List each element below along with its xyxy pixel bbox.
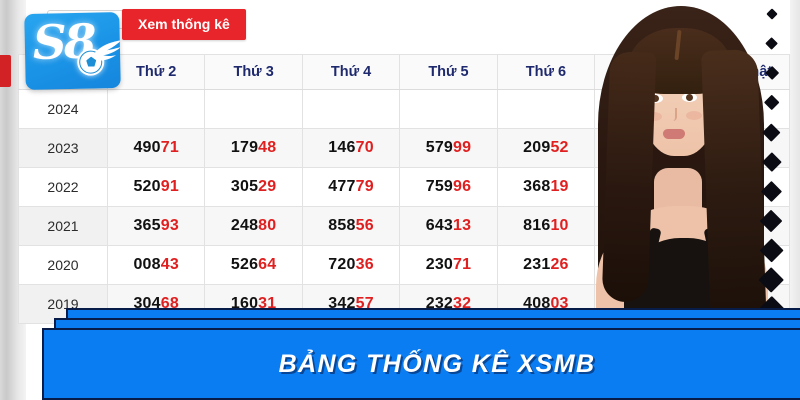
highlight-digits: 26 xyxy=(550,256,568,273)
number-value: 00843 xyxy=(133,256,179,273)
cell-value[interactable]: 00843 xyxy=(108,246,205,285)
blush-right xyxy=(686,111,702,120)
diamond-icon xyxy=(758,267,784,293)
highlight-digits: 48 xyxy=(258,139,276,156)
highlight-digits: 79 xyxy=(356,178,374,195)
nose xyxy=(668,108,677,121)
number-value: 47779 xyxy=(328,178,374,195)
number-value: 14670 xyxy=(328,139,374,156)
cell-value[interactable] xyxy=(400,90,497,129)
cell-value[interactable]: 30529 xyxy=(205,168,302,207)
highlight-digits: 13 xyxy=(453,217,471,234)
highlight-digits: 70 xyxy=(356,139,374,156)
partial-red-button[interactable] xyxy=(0,55,11,87)
row-year: 2023 xyxy=(19,129,108,168)
screenshot-stage: Thứ 2 Thứ 3 Thứ 4 Thứ 5 Thứ 6 Thứ 7 Chủ … xyxy=(0,0,800,400)
cell-value[interactable]: 14670 xyxy=(302,129,399,168)
banner-stack: BẢNG THỐNG KÊ XSMB xyxy=(0,294,800,400)
cell-value[interactable]: 20952 xyxy=(497,129,594,168)
cell-value[interactable] xyxy=(497,90,594,129)
highlight-digits: 10 xyxy=(550,217,568,234)
cell-value[interactable]: 23071 xyxy=(400,246,497,285)
diamond-icon xyxy=(765,66,780,81)
diamond-icon xyxy=(762,152,781,171)
diamond-icon xyxy=(763,123,781,141)
number-value: 85856 xyxy=(328,217,374,234)
highlight-digits: 91 xyxy=(161,178,179,195)
highlight-digits: 56 xyxy=(356,217,374,234)
column-header-thu-4[interactable]: Thứ 4 xyxy=(302,55,399,90)
highlight-digits: 36 xyxy=(356,256,374,273)
banner-title: BẢNG THỐNG KÊ XSMB xyxy=(44,330,800,398)
cell-value[interactable]: 52664 xyxy=(205,246,302,285)
cell-value[interactable]: 23126 xyxy=(497,246,594,285)
diamond-icon xyxy=(761,181,782,202)
diamond-icon xyxy=(764,95,780,111)
column-header-thu-6[interactable]: Thứ 6 xyxy=(497,55,594,90)
diamond-icon xyxy=(760,210,783,233)
row-year: 2024 xyxy=(19,90,108,129)
highlight-digits: 93 xyxy=(161,217,179,234)
number-value: 49071 xyxy=(133,139,179,156)
cell-value[interactable]: 49071 xyxy=(108,129,205,168)
number-value: 20952 xyxy=(523,139,569,156)
number-value: 57999 xyxy=(426,139,472,156)
number-value: 30529 xyxy=(231,178,277,195)
number-value: 36819 xyxy=(523,178,569,195)
highlight-digits: 52 xyxy=(550,139,568,156)
banner-card-front: BẢNG THỐNG KÊ XSMB xyxy=(42,328,800,400)
cell-value[interactable]: 85856 xyxy=(302,207,399,246)
cell-value[interactable] xyxy=(302,90,399,129)
diamond-icon xyxy=(759,238,783,262)
number-value: 23126 xyxy=(523,256,569,273)
flame-icon xyxy=(95,40,121,63)
number-value: 24880 xyxy=(231,217,277,234)
number-value: 17948 xyxy=(231,139,277,156)
diamond-icon xyxy=(765,37,778,50)
hair-left xyxy=(602,51,657,302)
cell-value[interactable]: 36819 xyxy=(497,168,594,207)
diamond-icon xyxy=(766,8,777,19)
cell-value[interactable]: 17948 xyxy=(205,129,302,168)
column-header-thu-3[interactable]: Thứ 3 xyxy=(205,55,302,90)
cell-value[interactable]: 52091 xyxy=(108,168,205,207)
cell-value[interactable]: 64313 xyxy=(400,207,497,246)
highlight-digits: 80 xyxy=(258,217,276,234)
highlight-digits: 43 xyxy=(161,256,179,273)
xem-thong-ke-button[interactable]: Xem thống kê xyxy=(122,9,246,40)
number-value: 52091 xyxy=(133,178,179,195)
number-value: 23071 xyxy=(426,256,472,273)
highlight-digits: 19 xyxy=(550,178,568,195)
number-value: 75996 xyxy=(426,178,472,195)
row-year: 2020 xyxy=(19,246,108,285)
highlight-digits: 29 xyxy=(258,178,276,195)
cell-value[interactable]: 47779 xyxy=(302,168,399,207)
number-value: 36593 xyxy=(133,217,179,234)
cell-value[interactable] xyxy=(108,90,205,129)
eye-right xyxy=(682,93,697,102)
highlight-digits: 64 xyxy=(258,256,276,273)
number-value: 72036 xyxy=(328,256,374,273)
cell-value[interactable]: 57999 xyxy=(400,129,497,168)
cell-value[interactable] xyxy=(205,90,302,129)
cell-value[interactable]: 75996 xyxy=(400,168,497,207)
column-header-thu-5[interactable]: Thứ 5 xyxy=(400,55,497,90)
lips xyxy=(663,129,685,139)
cell-value[interactable]: 24880 xyxy=(205,207,302,246)
number-value: 52664 xyxy=(231,256,277,273)
cell-value[interactable]: 72036 xyxy=(302,246,399,285)
number-value: 81610 xyxy=(523,217,569,234)
row-year: 2021 xyxy=(19,207,108,246)
column-header-thu-2[interactable]: Thứ 2 xyxy=(108,55,205,90)
cell-value[interactable]: 36593 xyxy=(108,207,205,246)
number-value: 64313 xyxy=(426,217,472,234)
highlight-digits: 71 xyxy=(453,256,471,273)
highlight-digits: 96 xyxy=(453,178,471,195)
cell-value[interactable]: 81610 xyxy=(497,207,594,246)
highlight-digits: 99 xyxy=(453,139,471,156)
s8-logo[interactable]: S8 xyxy=(24,12,121,90)
highlight-digits: 71 xyxy=(161,139,179,156)
row-year: 2022 xyxy=(19,168,108,207)
